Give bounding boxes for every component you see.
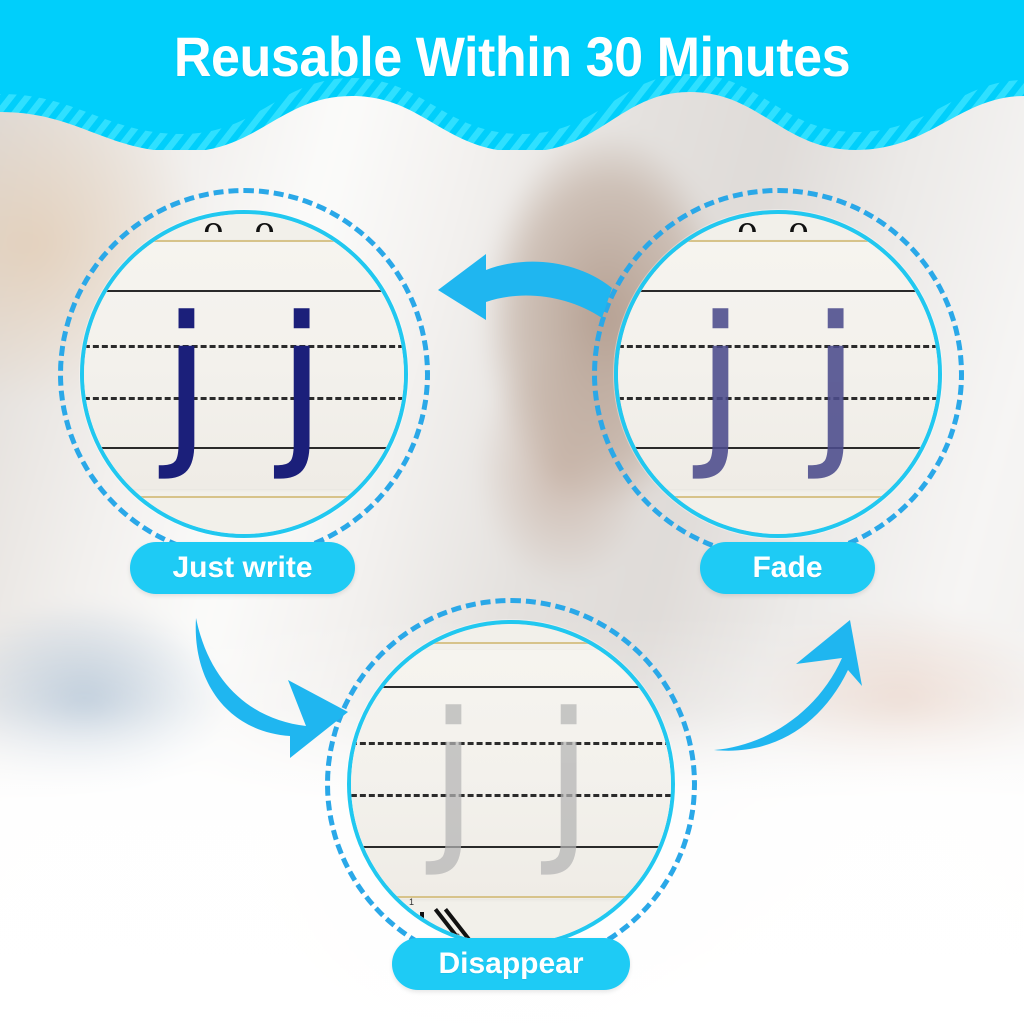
rule-line-gold-bottom [618,496,938,498]
rule-line-gold-top [351,642,671,644]
rule-line-solid-top [84,290,404,292]
worksheet-top-cut-row: o o [84,214,404,232]
stroke-order-marks: 1 2 [118,506,228,534]
curved-arrow-down-right-icon [178,608,358,778]
step-fade[interactable]: o o j j 1 2 [592,188,964,560]
traced-letter: j [277,294,326,470]
stroke-order-marks: 1 2 [652,506,762,534]
traced-letter: j [162,294,211,470]
curved-arrow-up-right-icon [700,600,880,780]
rule-line-gold-bottom [84,496,404,498]
traced-letter: j [811,294,860,470]
solid-ring: o o j j 1 2 [80,210,408,538]
step-just-write[interactable]: o o j j 1 2 [58,188,430,560]
rule-line-gold-top [84,240,404,242]
rule-line-gold-top [618,240,938,242]
worksheet-surface: o o j j 1 2 [84,214,404,534]
solid-ring: o o j j 1 2 [614,210,942,538]
rule-line-gold-bottom [351,896,671,898]
traced-letter: j [544,690,593,866]
solid-ring: j j 1 2 1 [347,620,675,948]
curved-arrow-left-icon [424,240,624,360]
rule-line-solid-top [618,290,938,292]
rule-line-solid-top [351,686,671,688]
traced-letter: j [696,294,745,470]
page-title: Reusable Within 30 Minutes [36,0,988,112]
worksheet-top-cut-row: o o [618,214,938,232]
step-label-fade[interactable]: Fade [700,542,875,594]
worksheet-surface: o o j j 1 2 [618,214,938,534]
step-label-just-write[interactable]: Just write [130,542,355,594]
worksheet-surface: j j 1 2 1 [351,624,671,944]
header-banner: Reusable Within 30 Minutes [0,0,1024,150]
step-disappear[interactable]: j j 1 2 1 [325,598,697,970]
step-label-disappear[interactable]: Disappear [392,938,630,990]
traced-letter: j [429,690,478,866]
